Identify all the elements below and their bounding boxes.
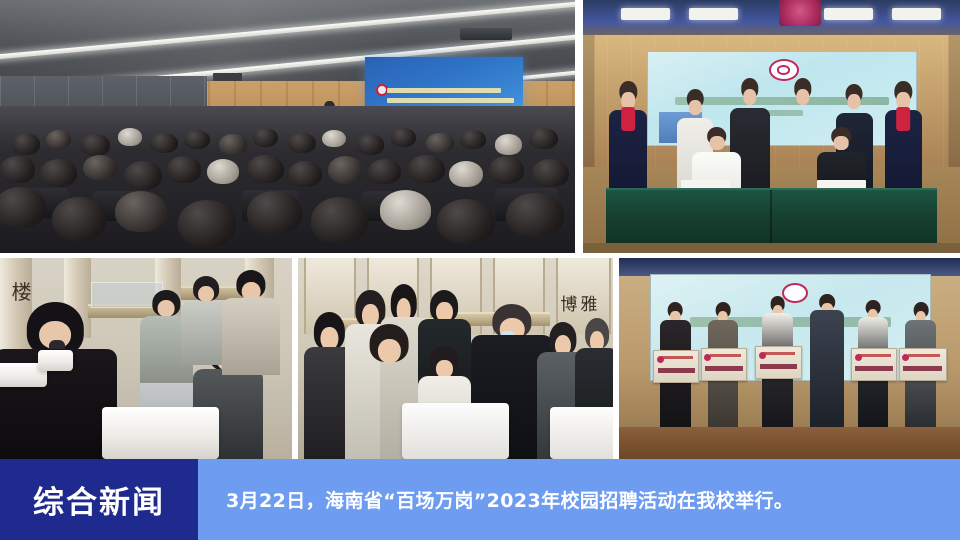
audience-head <box>247 155 284 183</box>
audience-head <box>426 133 455 154</box>
audience-head <box>489 156 525 184</box>
audience-head <box>357 134 385 155</box>
caption-container: 3月22日，海南省“百场万岗”2023年校园招聘活动在我校举行。 <box>198 459 960 540</box>
photo-auditorium <box>0 0 575 253</box>
audience-head <box>449 161 484 187</box>
audience-head <box>532 159 569 187</box>
audience-head <box>253 128 278 147</box>
audience-head <box>207 159 239 184</box>
category-label: 综合新闻 <box>33 477 165 522</box>
projector <box>213 73 242 81</box>
audience-head <box>167 156 202 182</box>
news-photo-story-page: 楼 <box>0 0 960 540</box>
audience-head <box>288 133 317 154</box>
audience-head <box>115 191 167 232</box>
award-plaque <box>701 348 747 380</box>
audience-head <box>81 134 111 156</box>
audience-head <box>12 133 41 155</box>
screen-title-line <box>387 98 514 103</box>
audience-head <box>46 130 71 149</box>
ceiling-light <box>689 8 738 20</box>
audience-head <box>506 193 564 237</box>
audience-head <box>368 159 401 184</box>
audience-head <box>391 128 416 147</box>
audience-head <box>247 191 302 234</box>
audience-head <box>52 197 107 241</box>
booth-table <box>38 350 73 370</box>
ceiling-light <box>621 8 670 20</box>
audience-head <box>124 161 162 190</box>
award-plaque <box>851 348 897 380</box>
news-caption-bar: 综合新闻 3月22日，海南省“百场万岗”2023年校园招聘活动在我校举行。 <box>0 459 960 540</box>
audience-head <box>495 134 523 155</box>
audience-head <box>118 128 142 146</box>
booth-table <box>402 403 509 459</box>
projector <box>460 28 512 41</box>
audience-head <box>178 200 236 247</box>
audience-head <box>408 155 445 183</box>
screen-title-line <box>387 88 501 93</box>
caption-text: 3月22日，海南省“百场万岗”2023年校园招聘活动在我校举行。 <box>198 486 793 513</box>
audience-head <box>288 161 323 187</box>
ceiling-emblem-icon <box>779 0 821 26</box>
award-plaque <box>653 350 699 382</box>
wall-calligraphy: 楼 <box>12 276 32 305</box>
ceiling <box>583 0 960 40</box>
floor <box>583 243 960 253</box>
ceiling-light <box>892 8 941 20</box>
audience-head <box>529 128 558 149</box>
photo-booth-registration: 博雅 <box>298 258 613 459</box>
presenter-figure <box>810 294 844 427</box>
audience-head <box>219 134 248 155</box>
photo-booth-interview: 楼 <box>0 258 292 459</box>
audience-head <box>0 187 46 228</box>
audience-head <box>437 199 495 244</box>
audience-head <box>380 190 432 230</box>
audience-head <box>322 130 346 148</box>
audience-area <box>0 106 575 253</box>
award-plaque <box>755 346 801 378</box>
booth-table <box>102 407 219 459</box>
audience-head <box>311 197 369 244</box>
award-plaque <box>899 348 947 380</box>
audience-head <box>328 156 364 184</box>
photo-collage: 楼 <box>0 0 960 459</box>
audience-head <box>0 156 35 182</box>
audience-head <box>150 133 179 154</box>
audience-head <box>40 159 77 187</box>
category-badge[interactable]: 综合新闻 <box>0 459 198 540</box>
audience-head <box>460 130 486 149</box>
stage-floor <box>619 427 960 459</box>
ceiling-light <box>824 8 873 20</box>
photo-signing-ceremony <box>583 0 960 253</box>
audience-head <box>184 130 210 149</box>
booth-table <box>550 407 613 459</box>
student-figure <box>222 270 280 375</box>
wall-calligraphy: 博雅 <box>560 290 600 315</box>
audience-head <box>83 155 116 180</box>
photo-plaque-ceremony <box>619 258 960 459</box>
